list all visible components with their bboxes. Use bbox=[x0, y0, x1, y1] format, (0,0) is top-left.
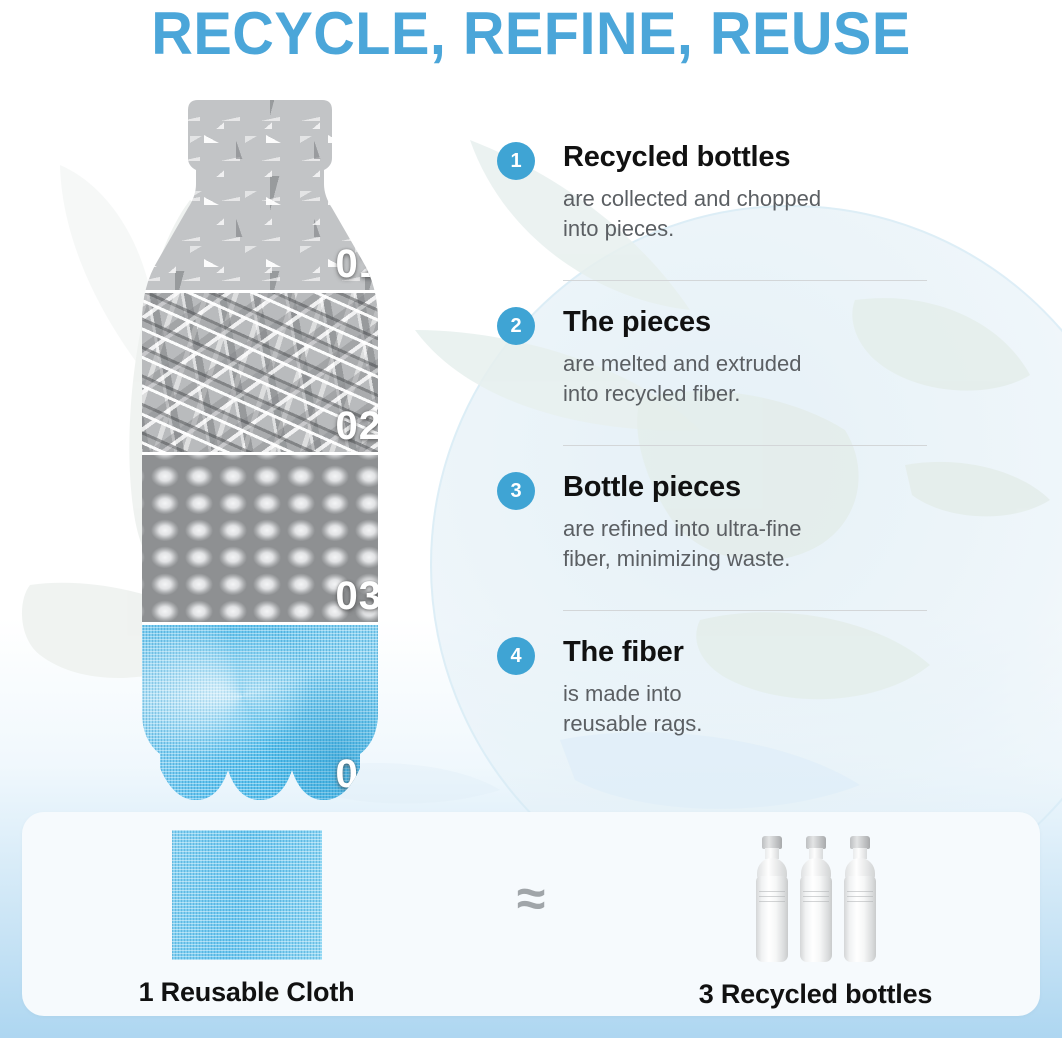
segment-number-03: 03 bbox=[336, 574, 383, 618]
process-step-list: 1 Recycled bottles are collected and cho… bbox=[497, 140, 927, 749]
step-title-3: Bottle pieces bbox=[563, 470, 927, 504]
bottle-illustration: 01 02 03 04 bbox=[110, 100, 410, 800]
step-divider-1 bbox=[563, 280, 927, 281]
step-divider-2 bbox=[563, 445, 927, 446]
step-item-2: 2 The pieces are melted and extruded int… bbox=[497, 305, 927, 419]
bottle-group-image bbox=[752, 830, 880, 962]
step-badge-3: 3 bbox=[497, 472, 535, 510]
blue-cloth-texture bbox=[110, 622, 410, 800]
step-item-4: 4 The fiber is made into reusable rags. bbox=[497, 635, 927, 749]
bottle-segment-01: 01 bbox=[110, 100, 410, 290]
mini-bottle-3 bbox=[840, 836, 880, 962]
bottle-rings bbox=[759, 888, 785, 902]
bottle-rings bbox=[847, 888, 873, 902]
bottle-segment-02: 02 bbox=[110, 290, 410, 452]
segment-number-01: 01 bbox=[336, 242, 383, 286]
mini-bottle-2 bbox=[796, 836, 836, 962]
step-body-2: are melted and extruded into recycled fi… bbox=[563, 349, 927, 409]
bottle-segment-03: 03 bbox=[110, 452, 410, 622]
step-badge-1: 1 bbox=[497, 142, 535, 180]
step-title-2: The pieces bbox=[563, 305, 927, 339]
crushed-plastic-texture bbox=[110, 100, 410, 290]
comparison-operator-wrap: ≈ bbox=[471, 812, 591, 1016]
step-body-4: is made into reusable rags. bbox=[563, 679, 927, 739]
bottle-rings bbox=[803, 888, 829, 902]
comparison-panel: 1 Reusable Cloth ≈ bbox=[22, 812, 1040, 1016]
comparison-left-caption: 1 Reusable Cloth bbox=[139, 976, 355, 1008]
step-divider-3 bbox=[563, 610, 927, 611]
comparison-left: 1 Reusable Cloth bbox=[22, 812, 471, 1016]
comparison-right-caption: 3 Recycled bottles bbox=[699, 978, 933, 1010]
approximately-equal-icon: ≈ bbox=[517, 873, 546, 925]
cloth-swatch-image bbox=[172, 830, 322, 960]
comparison-right: 3 Recycled bottles bbox=[591, 812, 1040, 1016]
step-badge-2: 2 bbox=[497, 307, 535, 345]
step-badge-4: 4 bbox=[497, 637, 535, 675]
step-item-3: 3 Bottle pieces are refined into ultra-f… bbox=[497, 470, 927, 584]
mini-bottle-1 bbox=[752, 836, 792, 962]
segment-number-02: 02 bbox=[336, 404, 383, 448]
segment-number-04: 04 bbox=[336, 752, 383, 796]
step-body-3: are refined into ultra-fine fiber, minim… bbox=[563, 514, 927, 574]
step-body-1: are collected and chopped into pieces. bbox=[563, 184, 927, 244]
step-title-1: Recycled bottles bbox=[563, 140, 927, 174]
step-title-4: The fiber bbox=[563, 635, 927, 669]
page-title: RECYCLE, REFINE, REUSE bbox=[21, 2, 1041, 66]
bottle-segment-04: 04 bbox=[110, 622, 410, 800]
step-item-1: 1 Recycled bottles are collected and cho… bbox=[497, 140, 927, 254]
infographic-root: RECYCLE, REFINE, REUSE 01 02 03 bbox=[0, 0, 1062, 1038]
